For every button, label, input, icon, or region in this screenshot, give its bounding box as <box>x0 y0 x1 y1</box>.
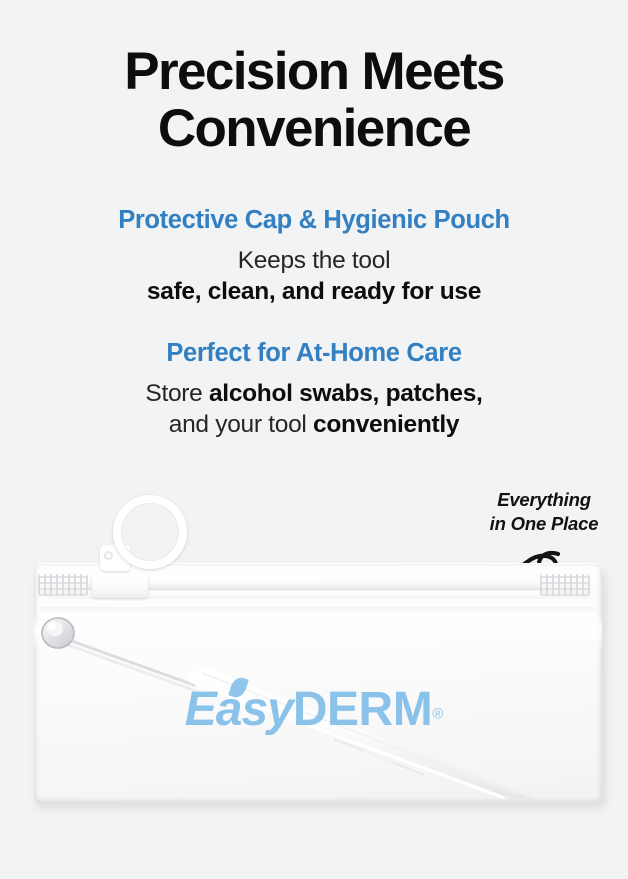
feature-body-2: Store alcohol swabs, patches, and your t… <box>0 378 628 441</box>
feature-body-2-line-2-bold: conveniently <box>313 411 459 438</box>
logo-text-derm-rest: ERM <box>327 683 432 736</box>
callout-label: Everything in One Place <box>466 488 622 535</box>
zipper-slider[interactable] <box>92 573 148 598</box>
feature-heading-2: Perfect for At-Home Care <box>0 338 628 369</box>
feature-block-at-home-care: Perfect for At-Home Care Store alcohol s… <box>0 338 628 440</box>
feature-body-2-line-2: and your tool conveniently <box>0 409 628 440</box>
feature-body-2-line-1: Store alcohol swabs, patches, <box>0 378 628 409</box>
zipper-end-stop-left <box>38 574 88 596</box>
feature-block-protective-cap: Protective Cap & Hygienic Pouch Keeps th… <box>0 205 628 307</box>
feature-body-2-line-1-bold: alcohol swabs, patches, <box>209 380 483 407</box>
feature-heading-1: Protective Cap & Hygienic Pouch <box>0 205 628 236</box>
feature-body-1: Keeps the tool safe, clean, and ready fo… <box>0 245 628 308</box>
ring-zipper-pull-icon[interactable] <box>113 495 187 569</box>
headline-line-1: Precision Meets <box>0 44 628 101</box>
registered-trademark-icon: ® <box>432 706 443 723</box>
brand-logo: EasyDERM® <box>0 682 628 737</box>
page-title: Precision Meets Convenience <box>0 44 628 157</box>
feature-body-2-line-2-light: and your tool <box>169 411 313 438</box>
zipper-end-stop-right <box>540 574 590 596</box>
feature-body-1-line-1: Keeps the tool <box>0 245 628 276</box>
product-infographic-page: Precision Meets Convenience Protective C… <box>0 0 628 879</box>
zipper-seam <box>40 607 596 621</box>
feature-body-1-line-2: safe, clean, and ready for use <box>0 276 628 307</box>
callout-line-2: in One Place <box>466 512 622 536</box>
callout-line-1: Everything <box>466 488 622 512</box>
headline-line-2: Convenience <box>0 101 628 158</box>
feature-body-2-line-1-light: Store <box>145 380 209 407</box>
zipper-pull-hole-icon <box>104 551 113 560</box>
logo-text-derm-cap: D <box>293 683 327 736</box>
